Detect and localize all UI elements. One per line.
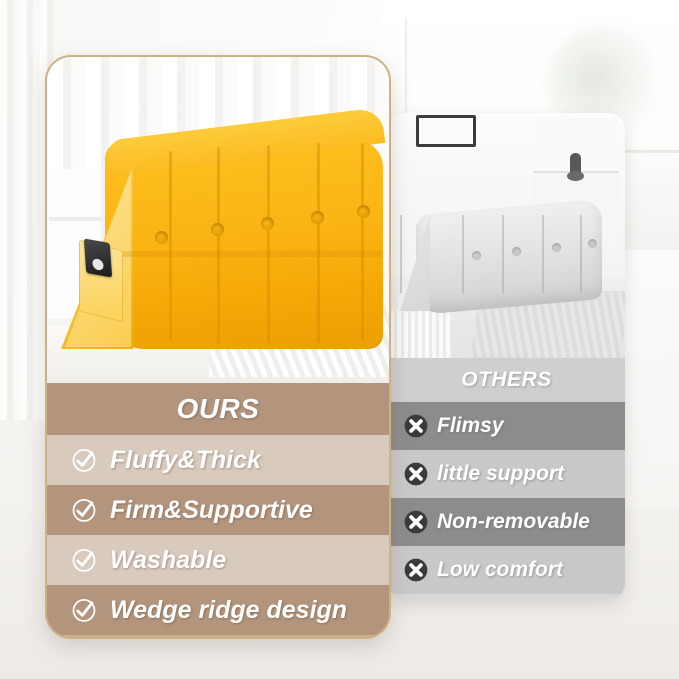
ours-feature-label: Firm&Supportive <box>110 496 313 525</box>
others-feature-label: Non-removable <box>437 510 590 534</box>
others-feature-label: Flimsy <box>437 414 504 438</box>
gray-picture-frame-icon <box>416 115 476 147</box>
yellow-pillow-body <box>105 141 383 349</box>
x-circle-icon <box>403 509 429 535</box>
others-feature-label: Low comfort <box>437 558 563 582</box>
ours-feature-label: Wedge ridge design <box>110 596 347 625</box>
others-comparison-table: OTHERS Flimsy little support <box>388 358 625 594</box>
ours-feature-row: Fluffy&Thick <box>47 435 389 485</box>
gray-pillow-tuft <box>512 247 521 256</box>
phone-in-pocket-icon <box>84 238 112 277</box>
x-circle-icon <box>403 461 429 487</box>
ours-card: OURS Fluffy&Thick Firm&Supportive <box>45 55 391 639</box>
yellow-pillow-tuft <box>357 205 370 218</box>
yellow-pillow <box>61 141 381 353</box>
gray-pillow-seam <box>502 215 504 293</box>
check-circle-icon <box>69 545 99 575</box>
yellow-wedge-pillow-photo <box>47 57 389 383</box>
ours-feature-label: Fluffy&Thick <box>110 446 261 475</box>
yellow-pillow-seam <box>217 147 220 343</box>
yellow-pillow-tuft <box>311 211 324 224</box>
others-feature-row: Low comfort <box>388 546 625 594</box>
yellow-pillow-seam <box>267 145 270 343</box>
gray-pillow-seam <box>462 215 464 293</box>
others-feature-row: Flimsy <box>388 402 625 450</box>
ours-feature-row: Wedge ridge design <box>47 585 389 635</box>
yellow-pillow-tuft <box>155 231 168 244</box>
others-feature-row: little support <box>388 450 625 498</box>
ours-feature-row: Washable <box>47 535 389 585</box>
gray-pillow-tuft <box>588 239 597 248</box>
yellow-pillow-center-band <box>105 251 383 257</box>
yellow-pillow-seam <box>317 143 320 343</box>
gray-pillow-tuft <box>552 243 561 252</box>
others-card: OTHERS Flimsy little support <box>388 113 625 599</box>
yellow-pillow-seam <box>169 151 172 341</box>
gray-pillow <box>400 201 604 313</box>
gray-pillow-seam <box>580 215 582 293</box>
others-feature-row: Non-removable <box>388 498 625 546</box>
x-circle-icon <box>403 557 429 583</box>
gray-pillow-body <box>416 199 602 315</box>
others-header: OTHERS <box>388 358 625 402</box>
ours-feature-row: Firm&Supportive <box>47 485 389 535</box>
gray-pillow-tuft <box>472 251 481 260</box>
gray-nightstand <box>390 307 452 361</box>
check-circle-icon <box>69 445 99 475</box>
ours-comparison-table: OURS Fluffy&Thick Firm&Supportive <box>47 383 389 635</box>
x-circle-icon <box>403 413 429 439</box>
check-circle-icon <box>69 495 99 525</box>
yellow-pillow-tuft <box>211 223 224 236</box>
comparison-graphic: OTHERS Flimsy little support <box>0 0 679 679</box>
ours-header: OURS <box>47 383 389 435</box>
gray-wedge-pillow-photo <box>388 113 625 361</box>
check-circle-icon <box>69 595 99 625</box>
yellow-pillow-seam <box>361 143 364 341</box>
gray-pillow-seam <box>400 215 402 293</box>
ours-feature-label: Washable <box>110 546 226 575</box>
yellow-pillow-tuft <box>261 217 274 230</box>
gray-pillow-seam <box>542 215 544 293</box>
others-feature-label: little support <box>437 462 564 486</box>
gray-vase-icon <box>570 153 581 179</box>
